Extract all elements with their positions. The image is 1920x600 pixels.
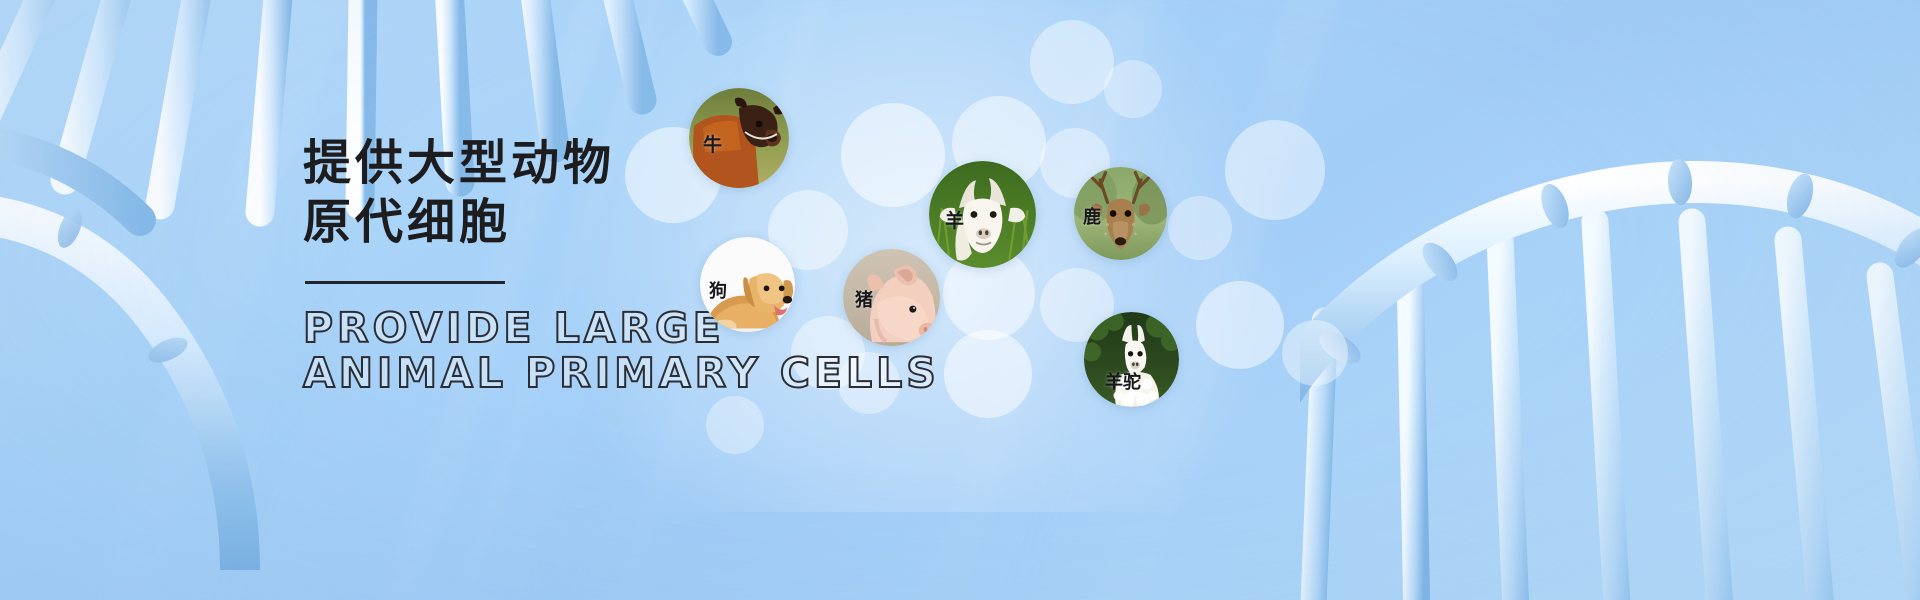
animal-circle-cow[interactable]: 牛 (689, 88, 789, 188)
animal-label-goat: 羊 (945, 206, 964, 233)
hero-banner: 提供大型动物 原代细胞 PROVIDE LARGE ANIMAL PRIMARY… (0, 0, 1920, 600)
bokeh-circle (1225, 120, 1325, 220)
edge-vignette (0, 0, 1920, 600)
bokeh-circle (1196, 281, 1284, 369)
light-streak (1024, 0, 1389, 600)
bokeh-circle (1030, 20, 1114, 104)
animal-label-alpaca: 羊驼 (1105, 368, 1141, 394)
bokeh-circle (706, 396, 764, 454)
headline-english-line-2: ANIMAL PRIMARY CELLS (303, 351, 863, 396)
animal-circle-goat[interactable]: 羊 (929, 161, 1036, 268)
animal-circle-dog[interactable]: 狗 (700, 237, 795, 332)
bokeh-circle (1104, 60, 1162, 118)
animal-label-deer: 鹿 (1083, 203, 1101, 229)
bokeh-circle (1168, 196, 1232, 260)
animal-label-cow: 牛 (703, 130, 722, 157)
dna-double-helix-icon (1300, 130, 1920, 600)
animal-label-dog: 狗 (709, 277, 727, 303)
animal-label-pig: 猪 (855, 286, 873, 312)
animal-circle-pig[interactable]: 猪 (843, 249, 940, 346)
bokeh-circle (1282, 320, 1348, 386)
animal-circle-alpaca[interactable]: 羊驼 (1084, 312, 1179, 407)
light-streak (933, 0, 1273, 600)
animal-circle-deer[interactable]: 鹿 (1074, 167, 1167, 260)
bokeh-circle (944, 330, 1032, 418)
headline-chinese-line-2: 原代细胞 (303, 193, 863, 252)
background-light-streaks (0, 0, 1920, 600)
divider-rule (305, 281, 505, 284)
